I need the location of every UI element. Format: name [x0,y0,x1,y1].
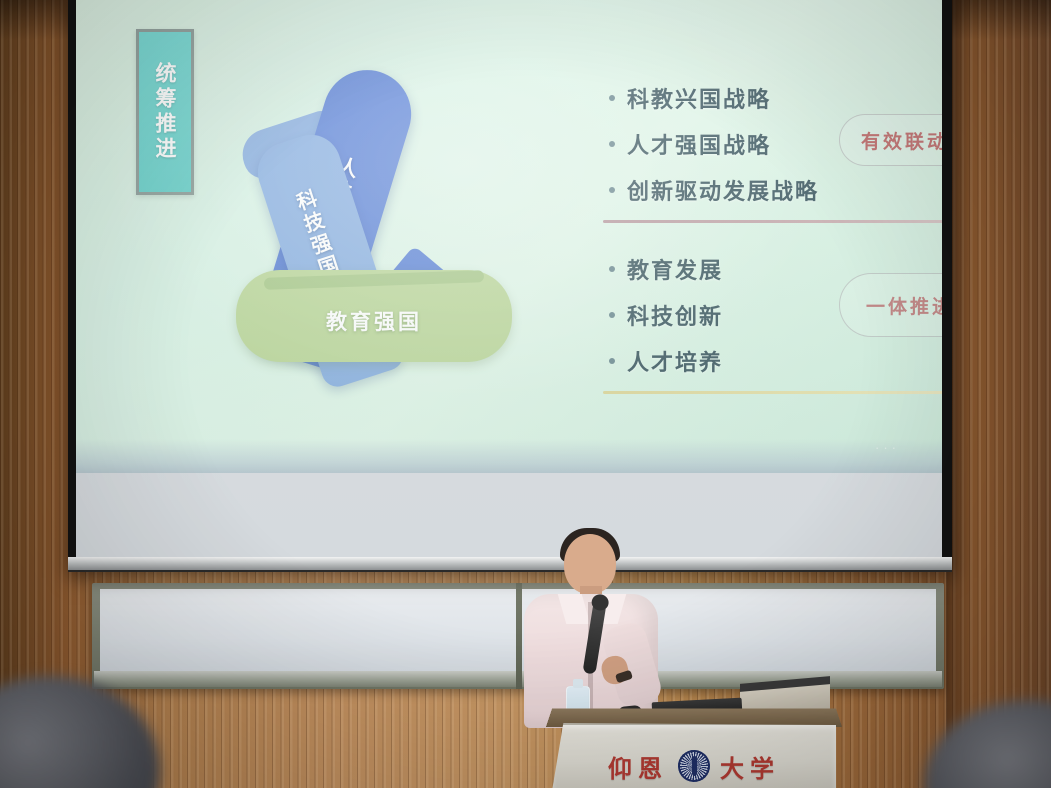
vertical-label-text: 统筹推进 [150,62,180,162]
bullet-dot-icon [609,312,615,318]
bullet-text: 科技创新 [627,299,723,331]
badge-effective-linkage: 有效联动 [839,114,942,166]
presenter [506,528,676,728]
diagram-arm-bottom-ridge [264,270,484,290]
presentation-slide: 统筹推进 人才强国 科技强国 教育强国 [76,0,942,473]
projection-screen-surface: 统筹推进 人才强国 科技强国 教育强国 [76,0,942,560]
group-underline [603,391,942,394]
university-name-right: 大学 [720,749,780,784]
university-name-left: 仰恩 [608,749,668,784]
bullet-text: 科教兴国战略 [627,82,771,114]
badge-integrated-advancement: 一体推进 [839,273,942,337]
diagram-arm-bottom: 教育强国 [236,270,512,362]
lecture-hall-photo: 统筹推进 人才强国 科技强国 教育强国 [0,0,1051,788]
bullet-dot-icon [609,266,615,272]
group-underline [603,220,942,223]
diagram-arm-left-label: 科技强国 [289,186,345,282]
bullet-group-2: 教育发展 科技创新 人才培养 一体推进 [581,253,942,394]
slide-content-column: 科教兴国战略 人才强国战略 创新驱动发展战略 有效联动 [581,82,942,410]
podium: 仰恩 大学 [546,705,842,788]
diagram-arm-bottom-label: 教育强国 [236,306,512,336]
bullet-text: 创新驱动发展战略 [627,174,819,206]
slide-corner-marks: ··· [875,440,900,455]
bullet-item: 人才培养 [609,345,942,377]
projection-screen-frame: 统筹推进 人才强国 科技强国 教育强国 [68,0,952,572]
podium-branding: 仰恩 大学 [552,745,836,787]
university-sunburst-logo-icon [678,750,710,782]
bullet-text: 教育发展 [627,253,723,285]
bullet-item: 科教兴国战略 [609,82,942,114]
bullet-item: 创新驱动发展战略 [609,174,942,206]
bullet-group-1: 科教兴国战略 人才强国战略 创新驱动发展战略 有效联动 [581,82,942,223]
presenter-head [564,534,616,594]
bullet-dot-icon [609,187,615,193]
bullet-text: 人才培养 [627,345,723,377]
bullet-dot-icon [609,95,615,101]
bullet-dot-icon [609,141,615,147]
triangle-diagram: 人才强国 科技强国 教育强国 [186,54,546,384]
bullet-text: 人才强国战略 [627,128,771,160]
bullet-dot-icon [609,358,615,364]
slide-bottom-gradient [76,439,942,473]
